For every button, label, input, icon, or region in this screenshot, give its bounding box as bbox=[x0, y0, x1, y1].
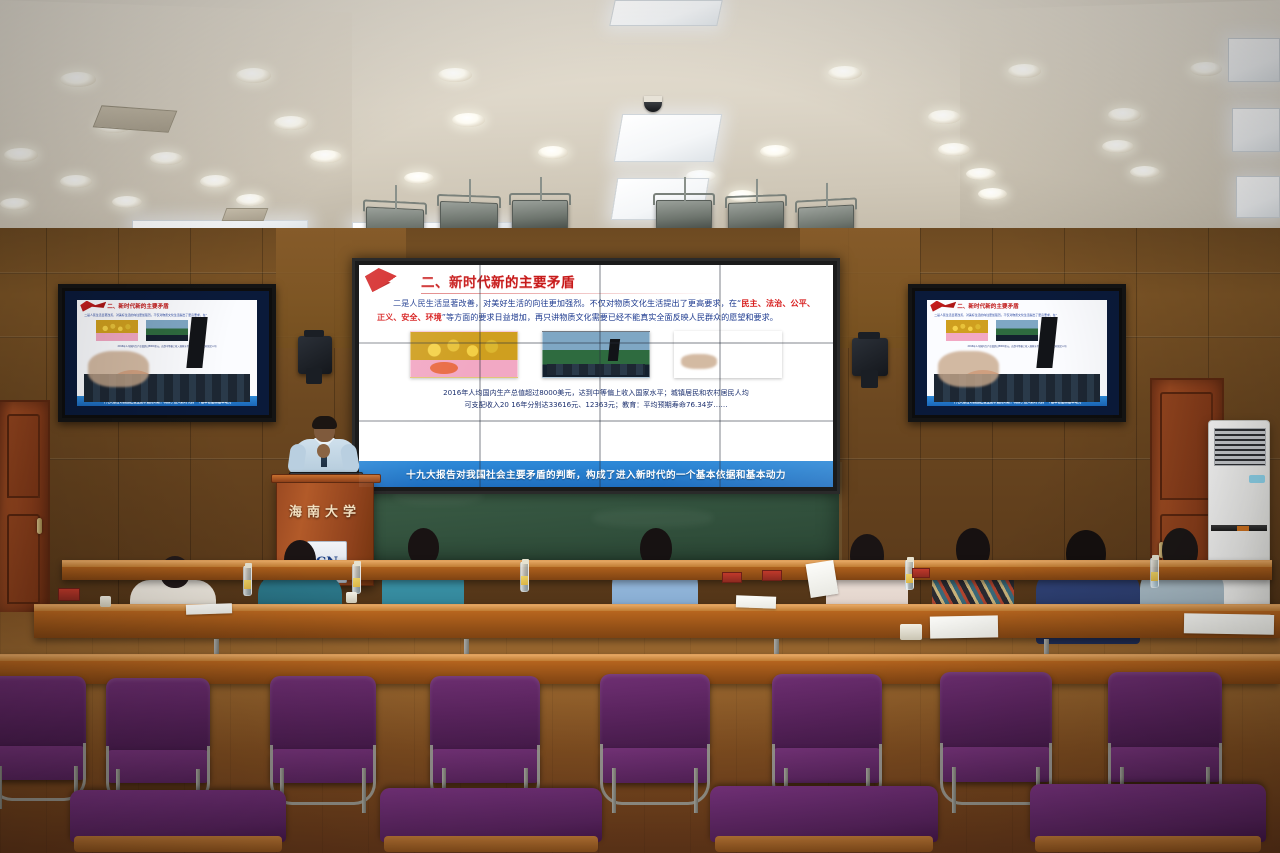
downlight bbox=[928, 110, 961, 124]
side-slide-title: 二、新时代新的主要矛盾 bbox=[107, 302, 257, 310]
wall-camera-right bbox=[852, 338, 888, 376]
dome-camera-icon bbox=[644, 96, 662, 112]
chair-front-row[interactable] bbox=[1030, 784, 1266, 842]
downlight bbox=[1008, 64, 1041, 78]
paper-cup[interactable] bbox=[100, 596, 111, 607]
downlight bbox=[60, 175, 92, 188]
red-ribbon-icon bbox=[80, 301, 106, 312]
classroom-photo bbox=[542, 331, 650, 378]
slide-title-rule bbox=[421, 293, 721, 294]
slide-body-part2: ”等方面的要求日益增加，再只讲物质文化需要已经不能真实全面反映人民群众的愿望和要… bbox=[442, 312, 778, 322]
notebook[interactable] bbox=[930, 615, 998, 638]
chair[interactable] bbox=[106, 678, 210, 808]
slide-title: 二、新时代新的主要矛盾 bbox=[421, 271, 833, 291]
name-card bbox=[722, 572, 742, 583]
slide-conclusion-banner: 十九大报告对我国社会主要矛盾的判断，构成了进入新时代的一个基本依据和基本动力 bbox=[359, 461, 833, 487]
water-bottle[interactable] bbox=[520, 562, 529, 592]
water-bottle[interactable] bbox=[352, 564, 361, 594]
downlight bbox=[938, 143, 970, 156]
chair-front-row[interactable] bbox=[710, 786, 938, 842]
ac-indicator-icon bbox=[1237, 526, 1249, 531]
door-left[interactable] bbox=[0, 400, 50, 614]
lecture-hall-scene: 二、新时代新的主要矛盾 二是人民生活显著改善，对美好生活的向往更加强烈。不仅对物… bbox=[0, 0, 1280, 853]
side-slide-photos bbox=[927, 320, 1107, 341]
slide-stats-line-2: 可支配收入20 16年分别达33616元、12363元；教育：平均预期寿命76.… bbox=[385, 399, 807, 411]
document-paper[interactable] bbox=[736, 595, 776, 608]
video-wall-display[interactable]: 二、新时代新的主要矛盾 二是人民生活显著改善，对美好生活的向往更加强烈。不仅对物… bbox=[352, 258, 840, 494]
chair-front-row[interactable] bbox=[70, 790, 286, 842]
ceiling bbox=[0, 0, 1280, 258]
side-slide-stats: 2016年人均国内生产总值超过8000美元，达到中等偏上收入国家水平；城镇居民和… bbox=[87, 345, 247, 349]
downlight bbox=[452, 113, 485, 127]
side-slide-left: 二、新时代新的主要矛盾 二是人民生活显著改善，对美好生活的向往更加强烈。不仅对物… bbox=[77, 300, 257, 407]
slide-stats-line-1: 2016年人均国内生产总值超过8000美元，达到中等偏上收入国家水平；城镇居民和… bbox=[385, 387, 807, 399]
downlight bbox=[112, 196, 142, 208]
downlight bbox=[828, 66, 862, 80]
name-card bbox=[762, 570, 782, 581]
gold-coins-photo bbox=[96, 320, 138, 341]
side-display-right[interactable]: 二、新时代新的主要矛盾 二是人民生活显著改善，对美好生活的向往更加强烈。不仅对物… bbox=[908, 284, 1126, 422]
document-paper[interactable] bbox=[186, 603, 232, 615]
downlight bbox=[274, 116, 308, 130]
downlight bbox=[1108, 108, 1141, 122]
downlight bbox=[0, 198, 30, 210]
ceiling-air-vent bbox=[222, 208, 269, 221]
ac-grille-icon bbox=[1214, 428, 1266, 466]
side-slide-right: 二、新时代新的主要矛盾 二是人民生活显著改善，对美好生活的向往更加强烈。不仅对物… bbox=[927, 300, 1107, 407]
downlight bbox=[1190, 62, 1222, 76]
downlight bbox=[1102, 140, 1134, 153]
presentation-slide: 二、新时代新的主要矛盾 二是人民生活显著改善，对美好生活的向往更加强烈。不仅对物… bbox=[359, 265, 833, 487]
red-ribbon-icon bbox=[930, 301, 956, 312]
led-panel-light bbox=[609, 0, 723, 26]
concert-stage-photo bbox=[674, 331, 782, 378]
downlight bbox=[310, 150, 342, 163]
downlight bbox=[438, 68, 472, 82]
slide-statistics: 2016年人均国内生产总值超过8000美元，达到中等偏上收入国家水平；城镇居民和… bbox=[385, 387, 807, 411]
red-ribbon-icon bbox=[365, 268, 427, 292]
name-card bbox=[58, 588, 80, 601]
lectern-label: 海南大学 bbox=[277, 501, 373, 520]
downlight bbox=[60, 72, 96, 87]
chair[interactable] bbox=[270, 676, 376, 808]
wall-camera-left bbox=[298, 336, 332, 374]
downlight bbox=[236, 194, 265, 206]
downlight bbox=[1130, 166, 1160, 178]
name-card bbox=[912, 568, 930, 578]
led-panel-light bbox=[1236, 176, 1280, 218]
downlight bbox=[538, 146, 568, 159]
downlight bbox=[978, 188, 1007, 200]
gold-coins-photo bbox=[946, 320, 988, 341]
ac-display-panel bbox=[1249, 475, 1265, 483]
side-slide-stats: 2016年人均国内生产总值超过8000美元，达到中等偏上收入国家水平；城镇居民和… bbox=[937, 345, 1097, 349]
document-paper[interactable] bbox=[1184, 613, 1274, 635]
side-slide-body: 二是人民生活显著改善，对美好生活的向往更加强烈。不仅对物质文化生活提出了更高要求… bbox=[934, 313, 1100, 318]
downlight bbox=[760, 145, 791, 158]
gold-coins-photo bbox=[410, 331, 518, 378]
side-slide-title: 二、新时代新的主要矛盾 bbox=[957, 302, 1107, 310]
water-bottle[interactable] bbox=[243, 566, 252, 596]
chair[interactable] bbox=[600, 674, 710, 808]
led-panel-light bbox=[1232, 108, 1280, 152]
paper-cup[interactable] bbox=[346, 592, 357, 603]
document-paper[interactable] bbox=[806, 560, 839, 598]
slide-photo-row bbox=[359, 331, 833, 378]
downlight bbox=[236, 68, 271, 83]
slide-body-text: 二是人民生活显著改善，对美好生活的向往更加强烈。不仅对物质文化生活提出了更高要求… bbox=[377, 297, 815, 324]
chair[interactable] bbox=[0, 676, 86, 804]
water-bottle[interactable] bbox=[1150, 558, 1159, 588]
led-panel-light bbox=[1228, 38, 1280, 82]
downlight bbox=[150, 152, 183, 165]
led-panel-light bbox=[614, 114, 722, 162]
downlight bbox=[404, 172, 434, 184]
downlight bbox=[200, 175, 231, 188]
classroom-photo bbox=[996, 320, 1038, 341]
snack-jar[interactable] bbox=[900, 624, 922, 640]
door-handle-icon[interactable] bbox=[37, 518, 42, 534]
side-slide-photos bbox=[77, 320, 257, 341]
downlight bbox=[4, 148, 38, 162]
slide-body-part1: 二是人民生活显著改善，对美好生活的向往更加强烈。不仅对物质文化生活提出了更高要求… bbox=[393, 298, 741, 308]
downlight bbox=[966, 168, 996, 180]
classroom-photo bbox=[146, 320, 188, 341]
chair-front-row[interactable] bbox=[380, 788, 602, 842]
side-display-left[interactable]: 二、新时代新的主要矛盾 二是人民生活显著改善，对美好生活的向往更加强烈。不仅对物… bbox=[58, 284, 276, 422]
side-slide-body: 二是人民生活显著改善，对美好生活的向往更加强烈。不仅对物质文化生活提出了更高要求… bbox=[84, 313, 250, 318]
